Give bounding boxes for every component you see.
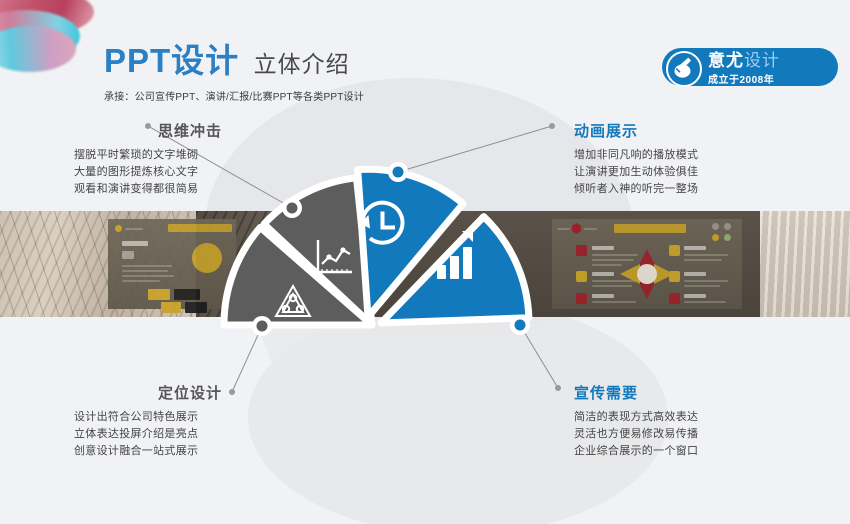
leader-line-top-right	[398, 126, 552, 172]
callout-heading: 宣传需要	[574, 382, 814, 403]
callout-line-2: 灵活也方便易修改易传播	[574, 426, 814, 443]
callout-promotion-need: 宣传需要 简洁的表现方式高效表达 灵活也方便易修改易传播 企业综合展示的一个窗口	[574, 382, 814, 460]
callout-line-1: 简洁的表现方式高效表达	[574, 409, 814, 426]
leader-endpoint-top-right	[549, 123, 555, 129]
callout-thinking-impact: 思维冲击 摆脱平时繁琐的文字堆砌 大量的图形提炼核心文字 观看和演讲变得都很简易	[70, 120, 310, 198]
leader-endpoint-bottom-right	[555, 385, 561, 391]
callout-line-2: 大量的图形提炼核心文字	[70, 164, 310, 181]
slide-canvas: PPT设计 立体介绍 承接：公司宣传PPT、演讲/汇报/比赛PPT等各类PPT设…	[0, 0, 850, 524]
callout-line-2: 让演讲更加生动体验俱佳	[574, 164, 814, 181]
callout-heading: 思维冲击	[70, 120, 310, 141]
callout-line-3: 观看和演讲变得都很简易	[70, 181, 310, 198]
callout-line-2: 立体表达投屏介绍是亮点	[70, 426, 310, 443]
leader-line-bottom-right	[520, 325, 558, 388]
callout-positioning-design: 定位设计 设计出符合公司特色展示 立体表达投屏介绍是亮点 创意设计融合一站式展示	[70, 382, 310, 460]
callout-heading: 动画展示	[574, 120, 814, 141]
callout-line-3: 企业综合展示的一个窗口	[574, 443, 814, 460]
callout-animation-display: 动画展示 增加非同凡响的播放模式 让演讲更加生动体验俱佳 倾听者入神的听完一整场	[574, 120, 814, 198]
callout-line-1: 摆脱平时繁琐的文字堆砌	[70, 147, 310, 164]
callout-line-3: 倾听者入神的听完一整场	[574, 181, 814, 198]
callout-line-3: 创意设计融合一站式展示	[70, 443, 310, 460]
callout-line-1: 增加非同凡响的播放模式	[574, 147, 814, 164]
callout-heading: 定位设计	[70, 382, 310, 403]
callout-line-1: 设计出符合公司特色展示	[70, 409, 310, 426]
